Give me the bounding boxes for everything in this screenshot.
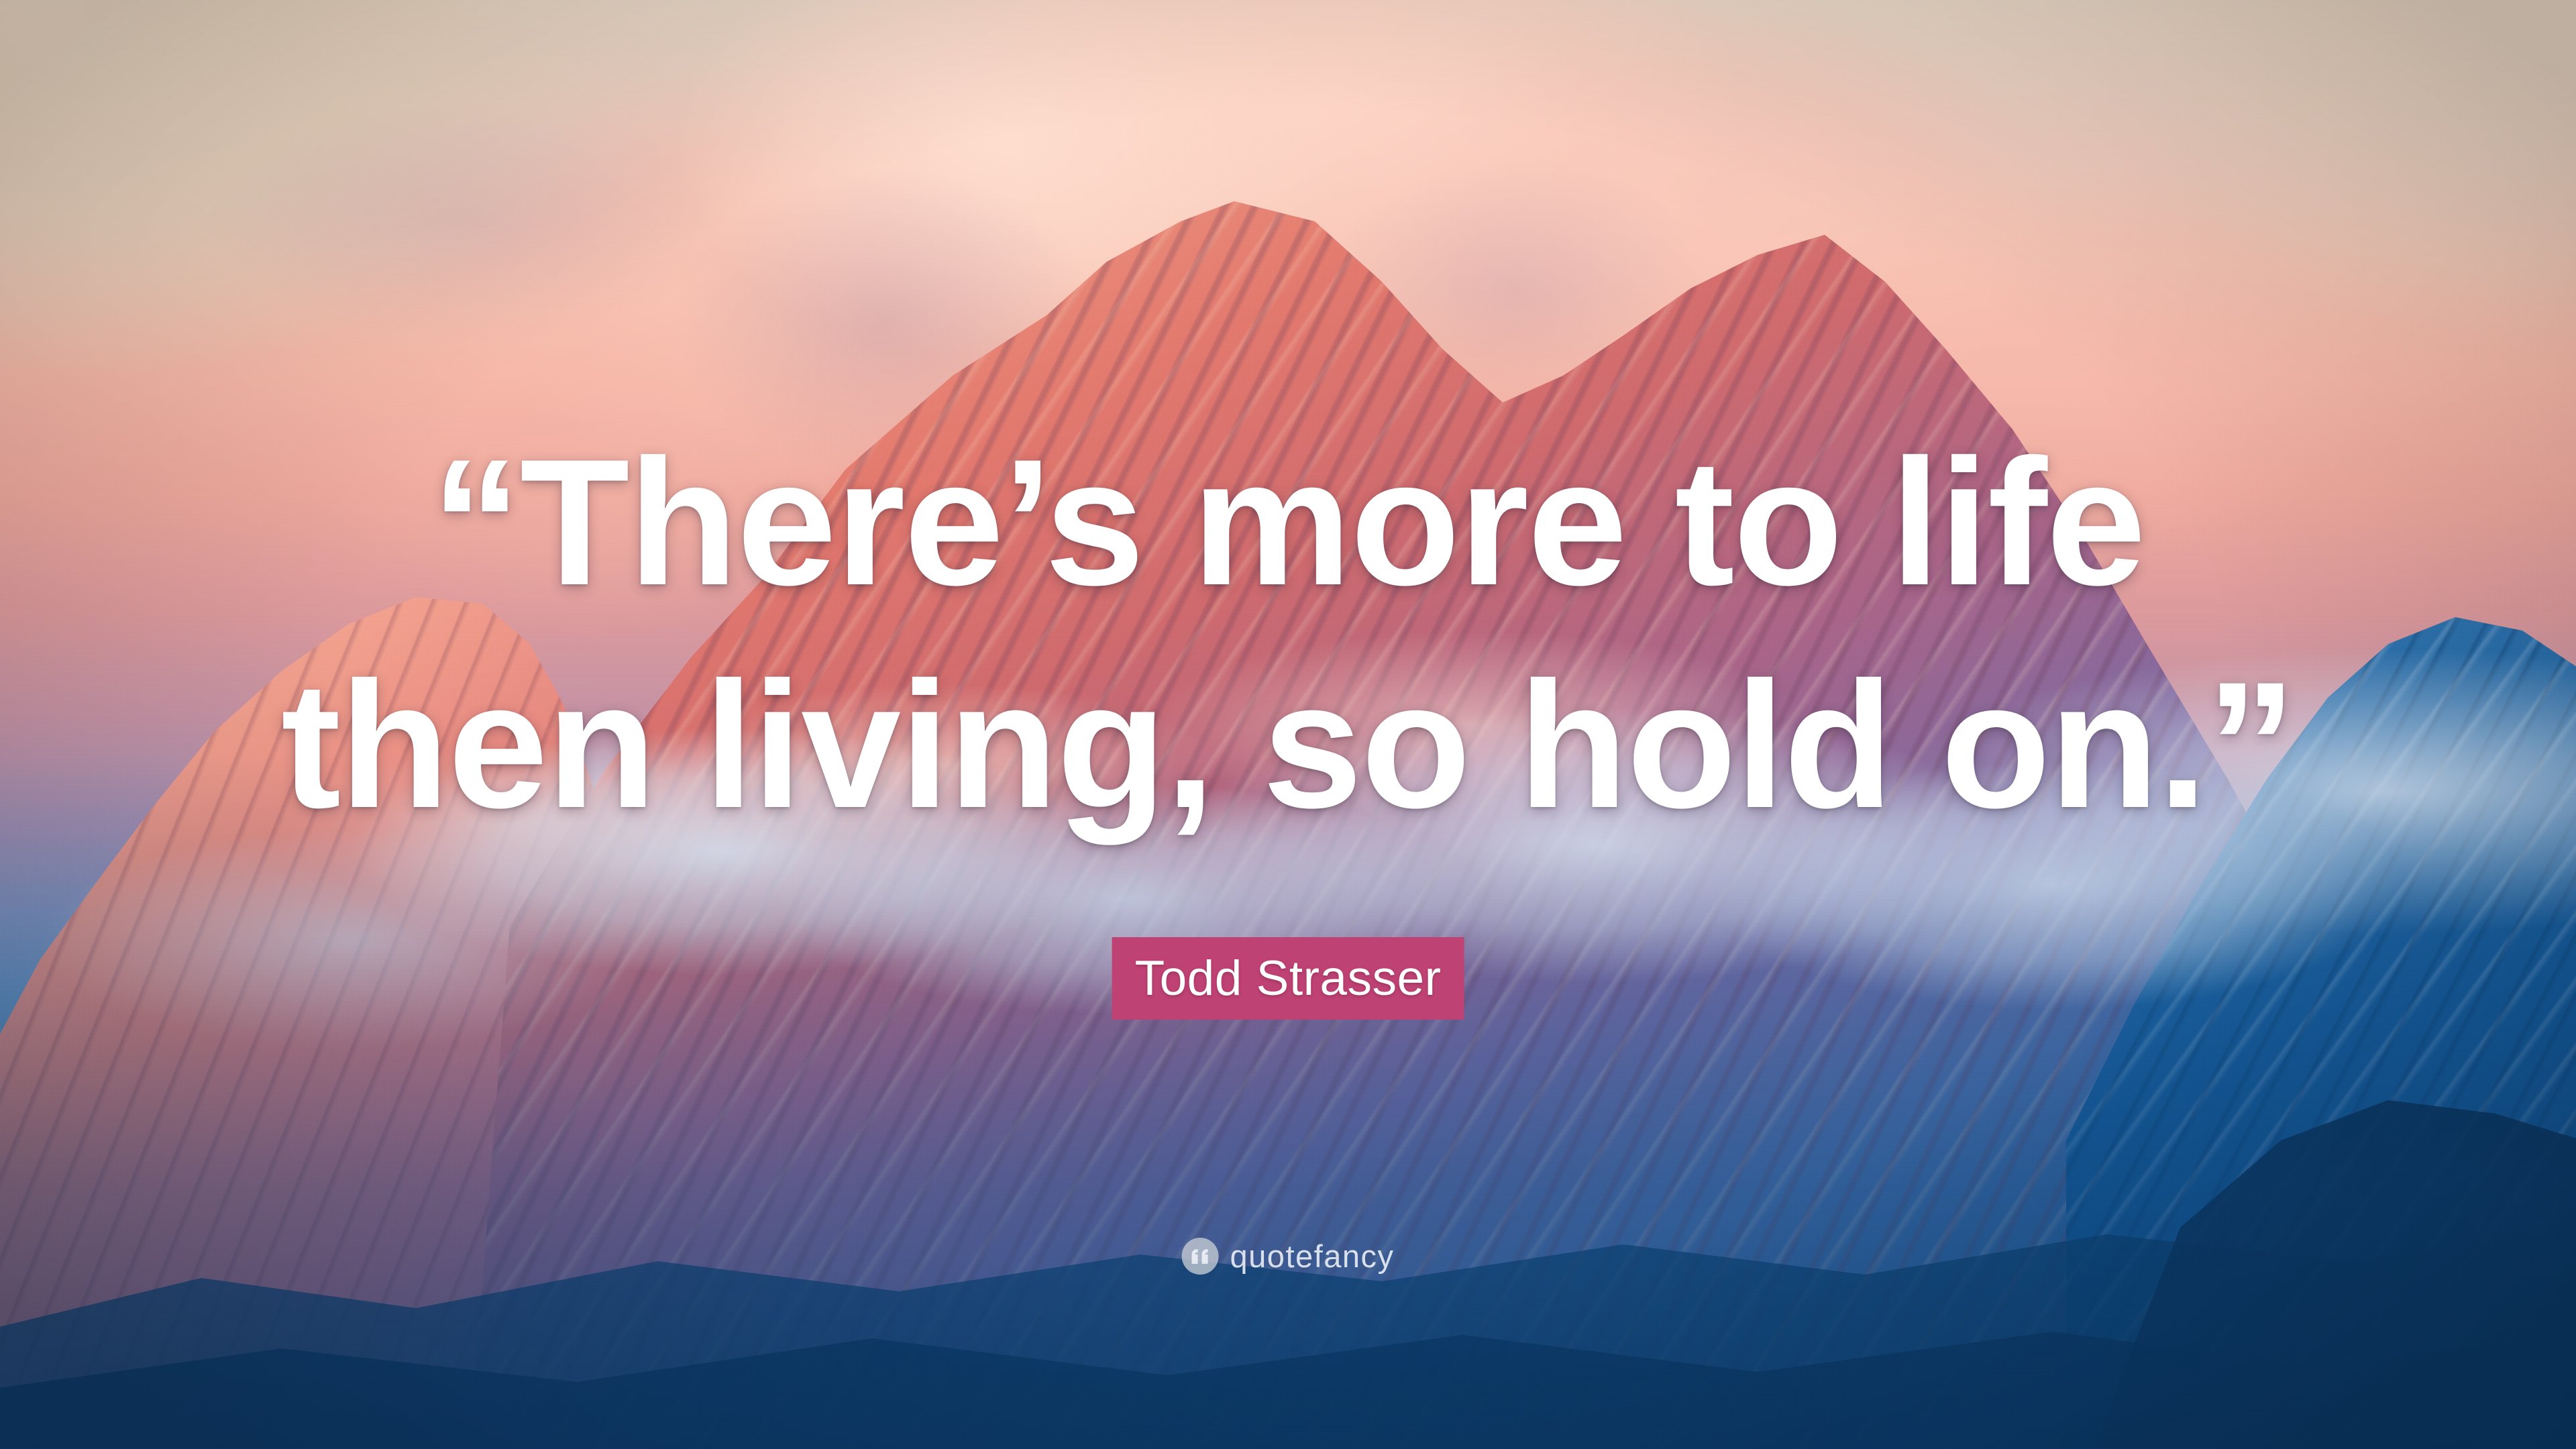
quote-marks-icon bbox=[1182, 1238, 1219, 1275]
author-name: Todd Strasser bbox=[1135, 954, 1442, 1003]
author-badge[interactable]: Todd Strasser bbox=[1112, 937, 1464, 1020]
quote-text: “There’s more to life then living, so ho… bbox=[0, 411, 2576, 857]
quote-line-2: then living, so hold on.” bbox=[121, 633, 2455, 856]
quote-wallpaper: “There’s more to life then living, so ho… bbox=[0, 0, 2576, 1449]
overlay-content: “There’s more to life then living, so ho… bbox=[0, 0, 2576, 1449]
quote-line-1: “There’s more to life bbox=[121, 411, 2455, 633]
quotefancy-wordmark: quotefancy bbox=[1230, 1240, 1395, 1272]
quotefancy-watermark[interactable]: quotefancy bbox=[1182, 1238, 1395, 1275]
